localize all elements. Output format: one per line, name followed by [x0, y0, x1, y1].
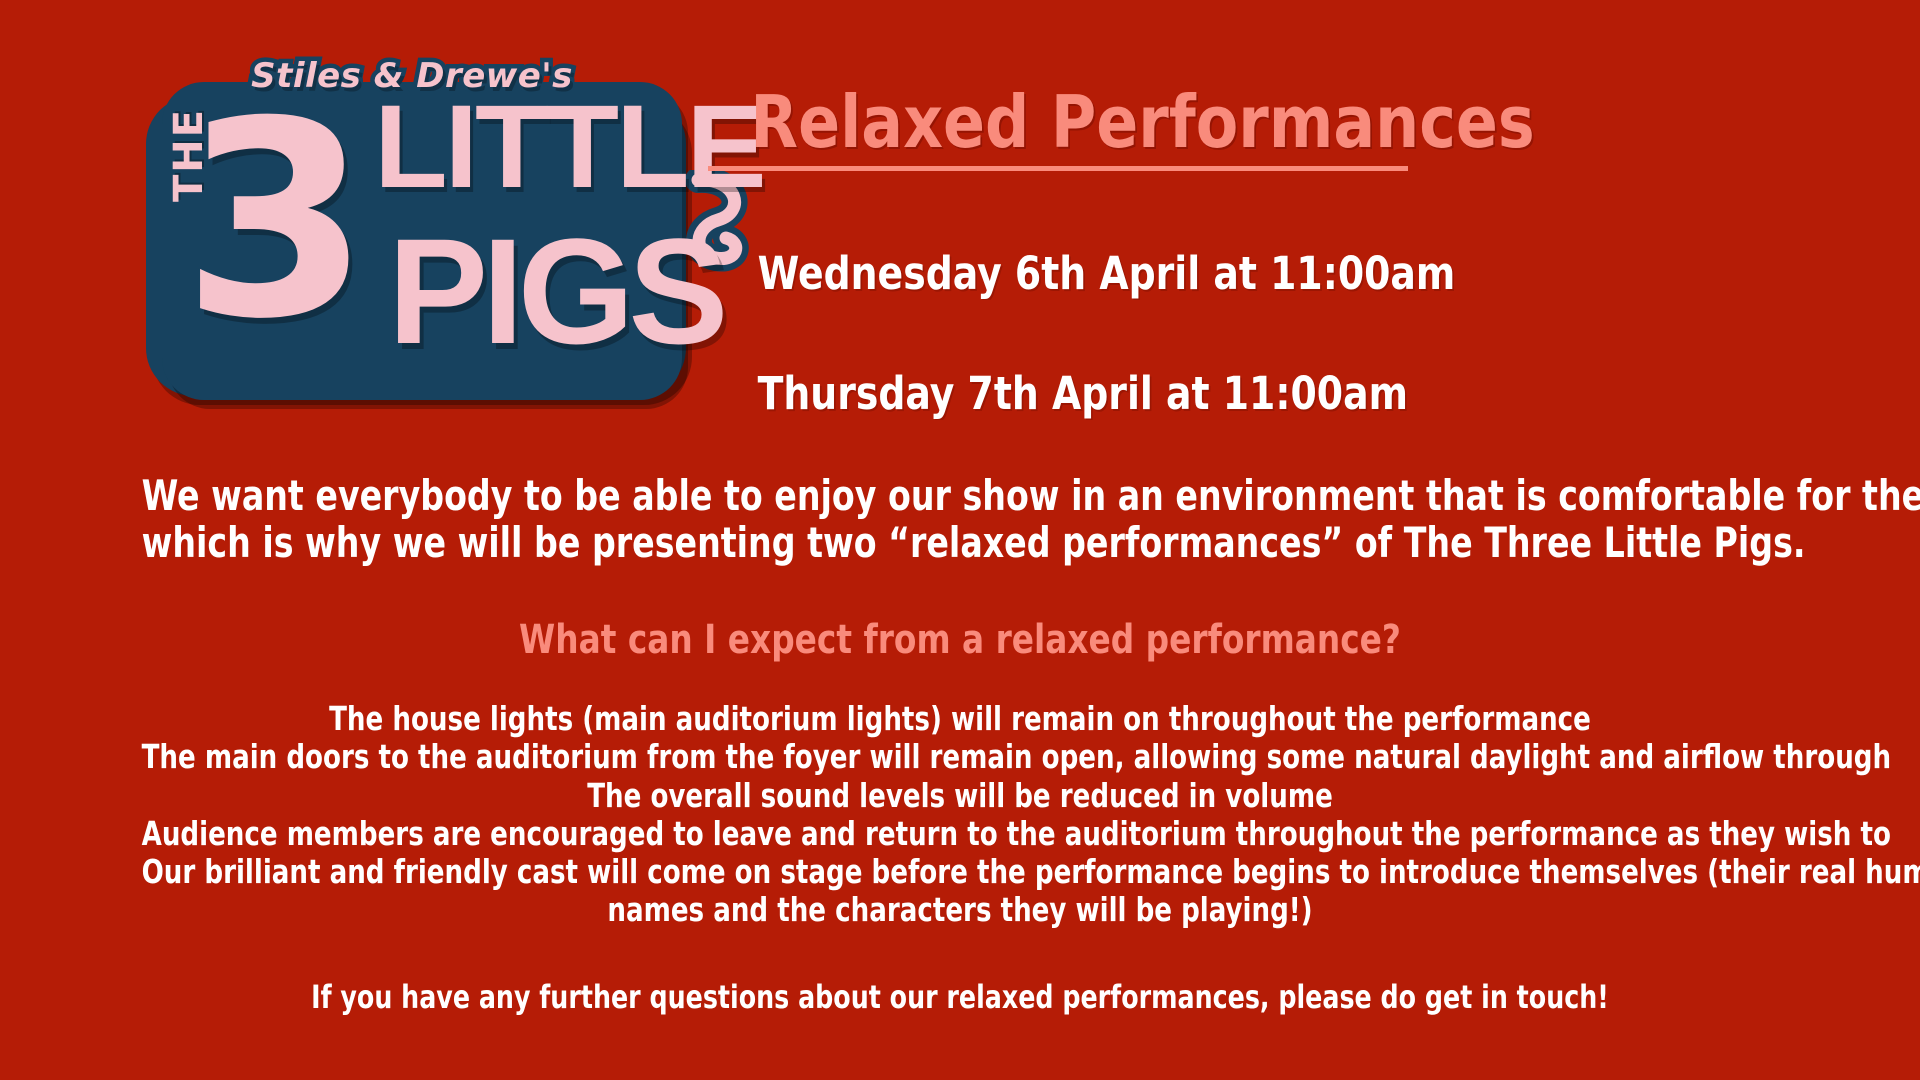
intro-line-2: which is why we will be presenting two “… [142, 519, 1779, 566]
intro-line-1: We want everybody to be able to enjoy ou… [142, 472, 1779, 519]
logo-word-little: LITTLE [374, 88, 763, 206]
title-underline [708, 166, 1408, 171]
closing-note: If you have any further questions about … [142, 980, 1779, 1015]
performance-date-2: Thursday 7th April at 11:00am [758, 370, 1363, 417]
section-subheading: What can I expect from a relaxed perform… [197, 620, 1722, 660]
list-item: Audience members are encouraged to leave… [142, 815, 1779, 853]
list-item: The overall sound levels will be reduced… [142, 777, 1779, 815]
list-item: The house lights (main auditorium lights… [142, 700, 1779, 738]
intro-paragraph: We want everybody to be able to enjoy ou… [142, 472, 1779, 566]
list-item: names and the characters they will be pl… [142, 891, 1779, 929]
expectations-list: The house lights (main auditorium lights… [142, 700, 1779, 930]
performance-date-1: Wednesday 6th April at 11:00am [758, 250, 1363, 297]
page-title: Relaxed Performances [750, 86, 1369, 159]
relaxed-performances-poster: Stiles & Drewe's THE 3 LITTLE PIGS Relax… [0, 0, 1920, 1080]
logo-numeral-three: 3 [182, 86, 370, 356]
logo-word-pigs: PIGS [388, 216, 722, 366]
list-item: The main doors to the auditorium from th… [142, 738, 1779, 776]
show-logo: Stiles & Drewe's THE 3 LITTLE PIGS [140, 30, 760, 430]
list-item: Our brilliant and friendly cast will com… [142, 853, 1779, 891]
